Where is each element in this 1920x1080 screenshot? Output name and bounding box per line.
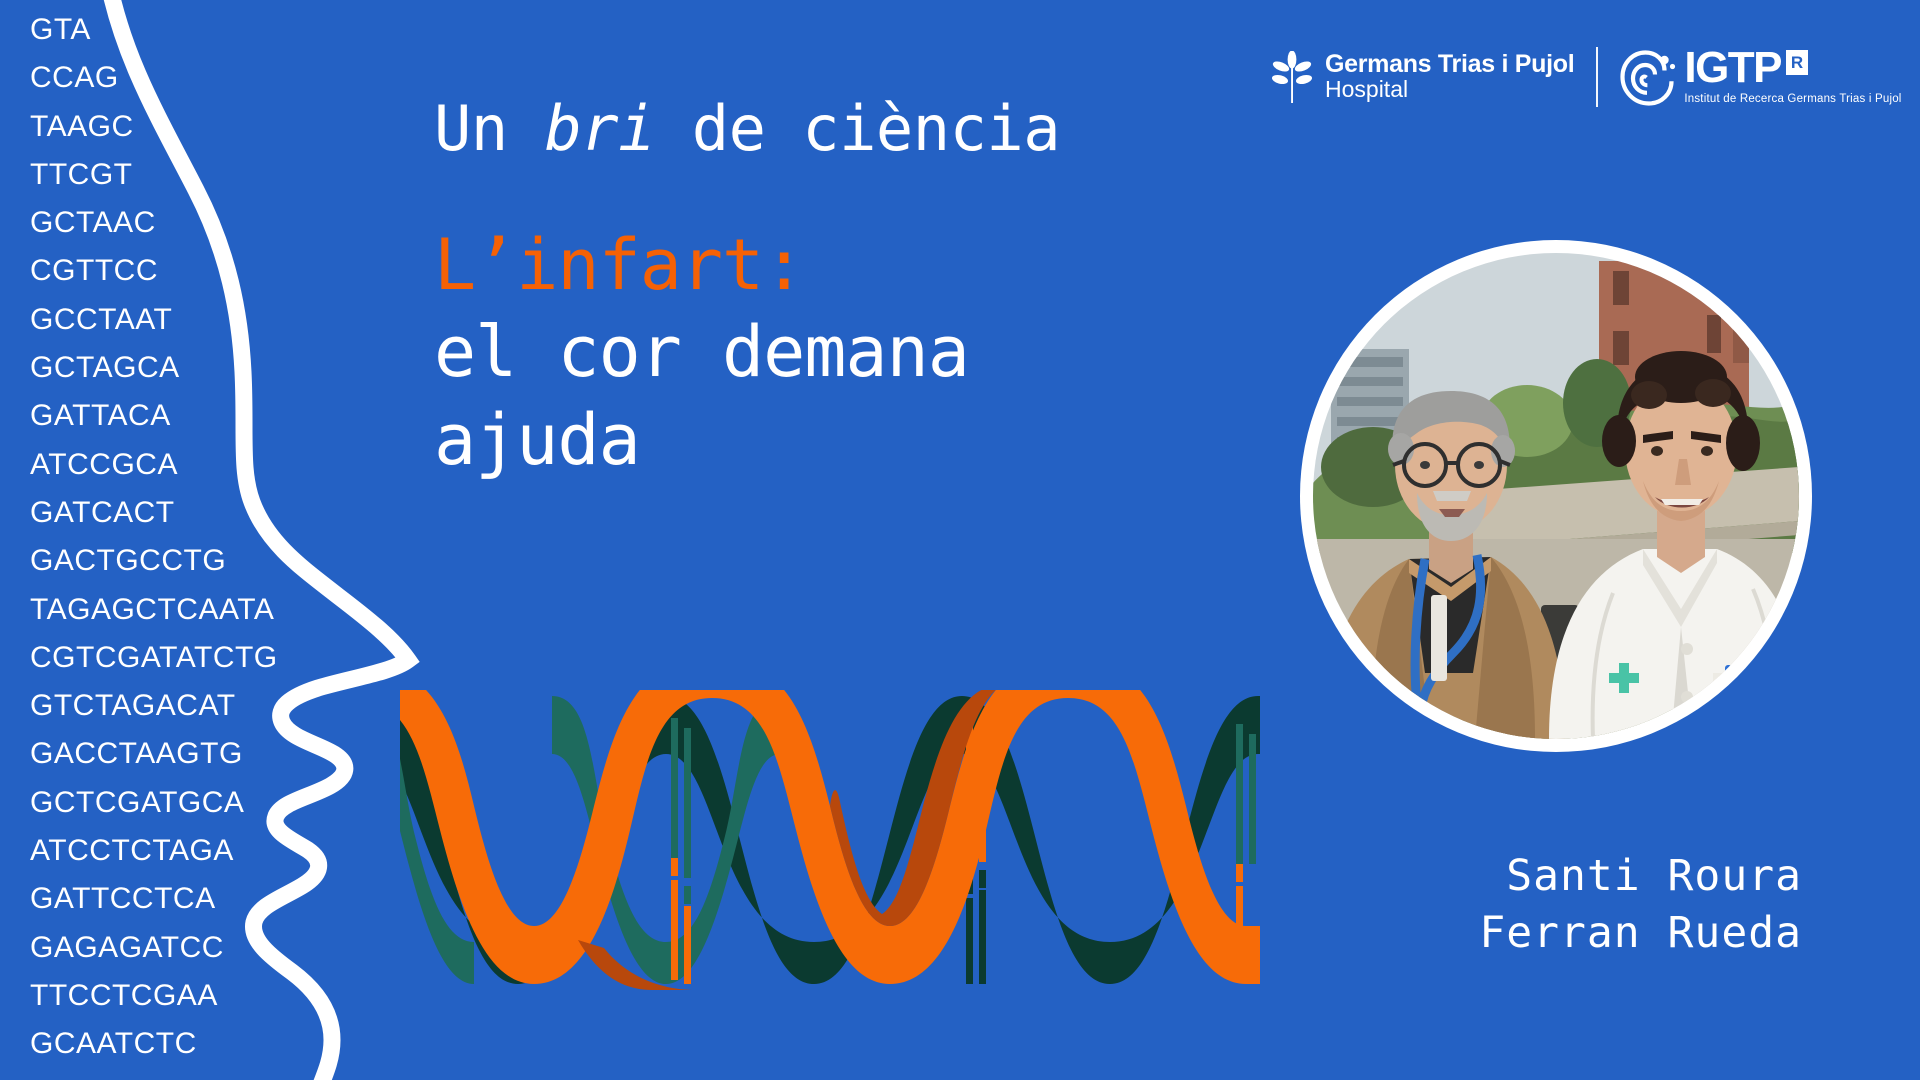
series-title: Un bri de ciència xyxy=(434,98,1254,160)
dna-sequence-line: GTCTAGACAT xyxy=(30,682,360,730)
igtp-logo-tagline: Institut de Recerca Germans Trias i Pujo… xyxy=(1684,93,1901,105)
dna-sequence-line: ATCCTCTAGA xyxy=(30,827,360,875)
dna-sequence-line: GATTACA xyxy=(30,392,360,440)
headline-main-lines: el cor demana ajuda xyxy=(434,308,1254,484)
dna-sequence-line: CGTTCC xyxy=(30,247,360,295)
dna-sequence-line: GACCTAAGTG xyxy=(30,730,360,778)
igtp-logo-name: IGTP xyxy=(1684,48,1781,88)
logo-bar: Germans Trias i Pujol Hospital IGTP R In… xyxy=(1272,38,1902,116)
portrait-circle-frame xyxy=(1300,240,1812,752)
speaker-names: Santi RouraFerran Rueda xyxy=(1479,848,1802,962)
igtp-registered-mark: R xyxy=(1786,50,1808,75)
dna-sequence-line: GTA xyxy=(30,6,360,54)
dna-double-helix-illustration xyxy=(400,690,1260,990)
series-title-emphasis: bri xyxy=(544,92,654,165)
hospital-logo-subtitle: Hospital xyxy=(1325,77,1574,102)
series-title-suffix: de ciència xyxy=(655,92,1060,165)
series-title-prefix: Un xyxy=(434,92,544,165)
dna-sequence-line: CCAG xyxy=(30,54,360,102)
dna-sequence-line: GATCACT xyxy=(30,489,360,537)
dna-sequence-line: GCTAAC xyxy=(30,199,360,247)
dna-sequence-line: GCCTAAT xyxy=(30,296,360,344)
dna-sequence-line: GCAATCTC xyxy=(30,1020,360,1068)
headline-block: Un bri de ciència L’infart: el cor deman… xyxy=(434,98,1254,485)
speaker-name: Santi Roura xyxy=(1479,848,1802,905)
portrait-photo xyxy=(1313,253,1799,739)
headline-accent-line: L’infart: xyxy=(434,228,1254,302)
headline-line-2: ajuda xyxy=(434,396,1254,484)
speaker-name: Ferran Rueda xyxy=(1479,905,1802,962)
dna-sequence-column: GTACCAGTAAGCTTCGTGCTAACCGTTCCGCCTAATGCTA… xyxy=(30,6,360,1080)
logo-divider xyxy=(1596,47,1598,107)
igtp-logo: IGTP R Institut de Recerca Germans Trias… xyxy=(1620,48,1901,106)
hospital-logo-name: Germans Trias i Pujol xyxy=(1325,51,1574,77)
spiral-icon xyxy=(1620,50,1676,106)
headline-line-1: el cor demana xyxy=(434,308,1254,396)
dna-sequence-line: GAGAGATCC xyxy=(30,924,360,972)
dna-sequence-line: GCTCGATGCA xyxy=(30,779,360,827)
dna-sequence-line: CGTCGATATCTG xyxy=(30,634,360,682)
dna-sequence-line: TAGAGCTCAATA xyxy=(30,586,360,634)
dna-sequence-line: TTCGT xyxy=(30,151,360,199)
dna-sequence-line: GACTGCCTG xyxy=(30,537,360,585)
leaf-plant-icon xyxy=(1272,51,1312,103)
dna-sequence-line: TTCCTCGAA xyxy=(30,972,360,1020)
dna-sequence-line: GATTCCTCA xyxy=(30,875,360,923)
dna-sequence-line: ATCCGCA xyxy=(30,441,360,489)
hospital-logo: Germans Trias i Pujol Hospital xyxy=(1272,51,1574,103)
dna-sequence-line: TAAGC xyxy=(30,103,360,151)
dna-sequence-line: GCTAGCA xyxy=(30,344,360,392)
